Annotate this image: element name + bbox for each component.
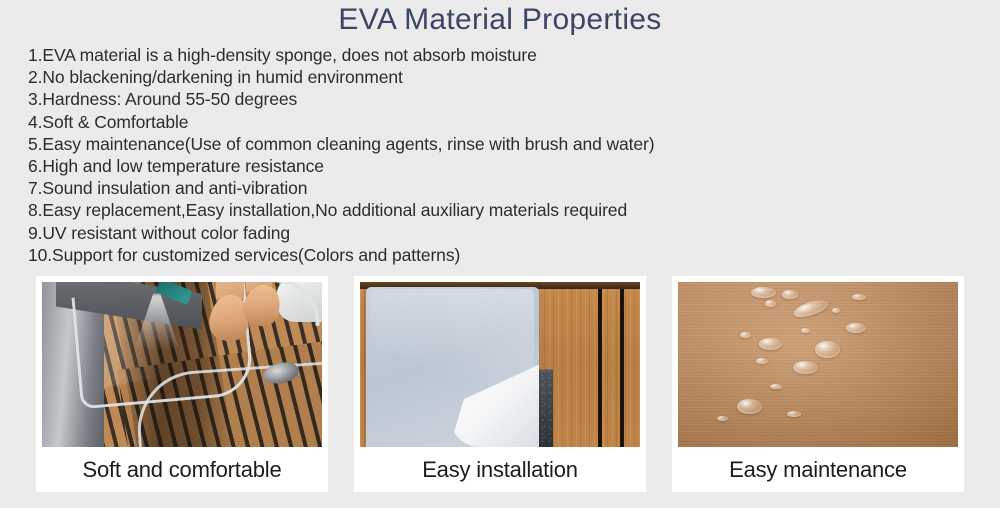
card-caption-3: Easy maintenance <box>678 447 958 492</box>
feature-item-6: 6.High and low temperature resistance <box>28 155 1000 177</box>
photo-card-soft-and-comfortable[interactable]: Soft and comfortable <box>36 276 328 492</box>
water-droplet <box>801 328 809 333</box>
install-scene <box>360 282 640 447</box>
water-droplet <box>852 294 866 301</box>
feature-item-7: 7.Sound insulation and anti-vibration <box>28 177 1000 199</box>
water-droplet <box>782 290 799 298</box>
photo-card-easy-installation[interactable]: Easy installation <box>354 276 646 492</box>
page-title: EVA Material Properties <box>0 0 1000 38</box>
photo-water-droplets <box>678 282 958 447</box>
feature-item-10: 10.Support for customized services(Color… <box>28 244 1000 266</box>
feature-item-8: 8.Easy replacement,Easy installation,No … <box>28 199 1000 221</box>
water-droplet <box>815 341 840 358</box>
water-droplet <box>740 332 751 339</box>
feature-item-2: 2.No blackening/darkening in humid envir… <box>28 66 1000 88</box>
bottom-background-strip <box>0 492 1000 508</box>
water-droplet <box>717 416 728 421</box>
card-caption-2: Easy installation <box>360 447 640 492</box>
water-droplet <box>759 338 781 350</box>
water-droplet <box>846 323 866 333</box>
deck-scene <box>42 282 322 447</box>
maintenance-scene <box>678 282 958 447</box>
photo-card-easy-maintenance[interactable]: Easy maintenance <box>672 276 964 492</box>
photo-boat-deck-hosing <box>42 282 322 447</box>
card-caption-1: Soft and comfortable <box>42 447 322 492</box>
water-droplet <box>737 399 762 414</box>
feature-list: 1.EVA material is a high-density sponge,… <box>0 44 1000 266</box>
feature-item-1: 1.EVA material is a high-density sponge,… <box>28 44 1000 66</box>
wood-seam-3 <box>620 282 624 447</box>
photo-card-row: Soft and comfortable Easy installation <box>36 276 964 492</box>
photo-peel-backing-install <box>360 282 640 447</box>
feature-item-4: 4.Soft & Comfortable <box>28 111 1000 133</box>
water-droplet <box>765 300 776 307</box>
feature-item-9: 9.UV resistant without color fading <box>28 222 1000 244</box>
feature-item-3: 3.Hardness: Around 55-50 degrees <box>28 88 1000 110</box>
wood-seam-2 <box>598 282 602 447</box>
feature-item-5: 5.Easy maintenance(Use of common cleanin… <box>28 133 1000 155</box>
